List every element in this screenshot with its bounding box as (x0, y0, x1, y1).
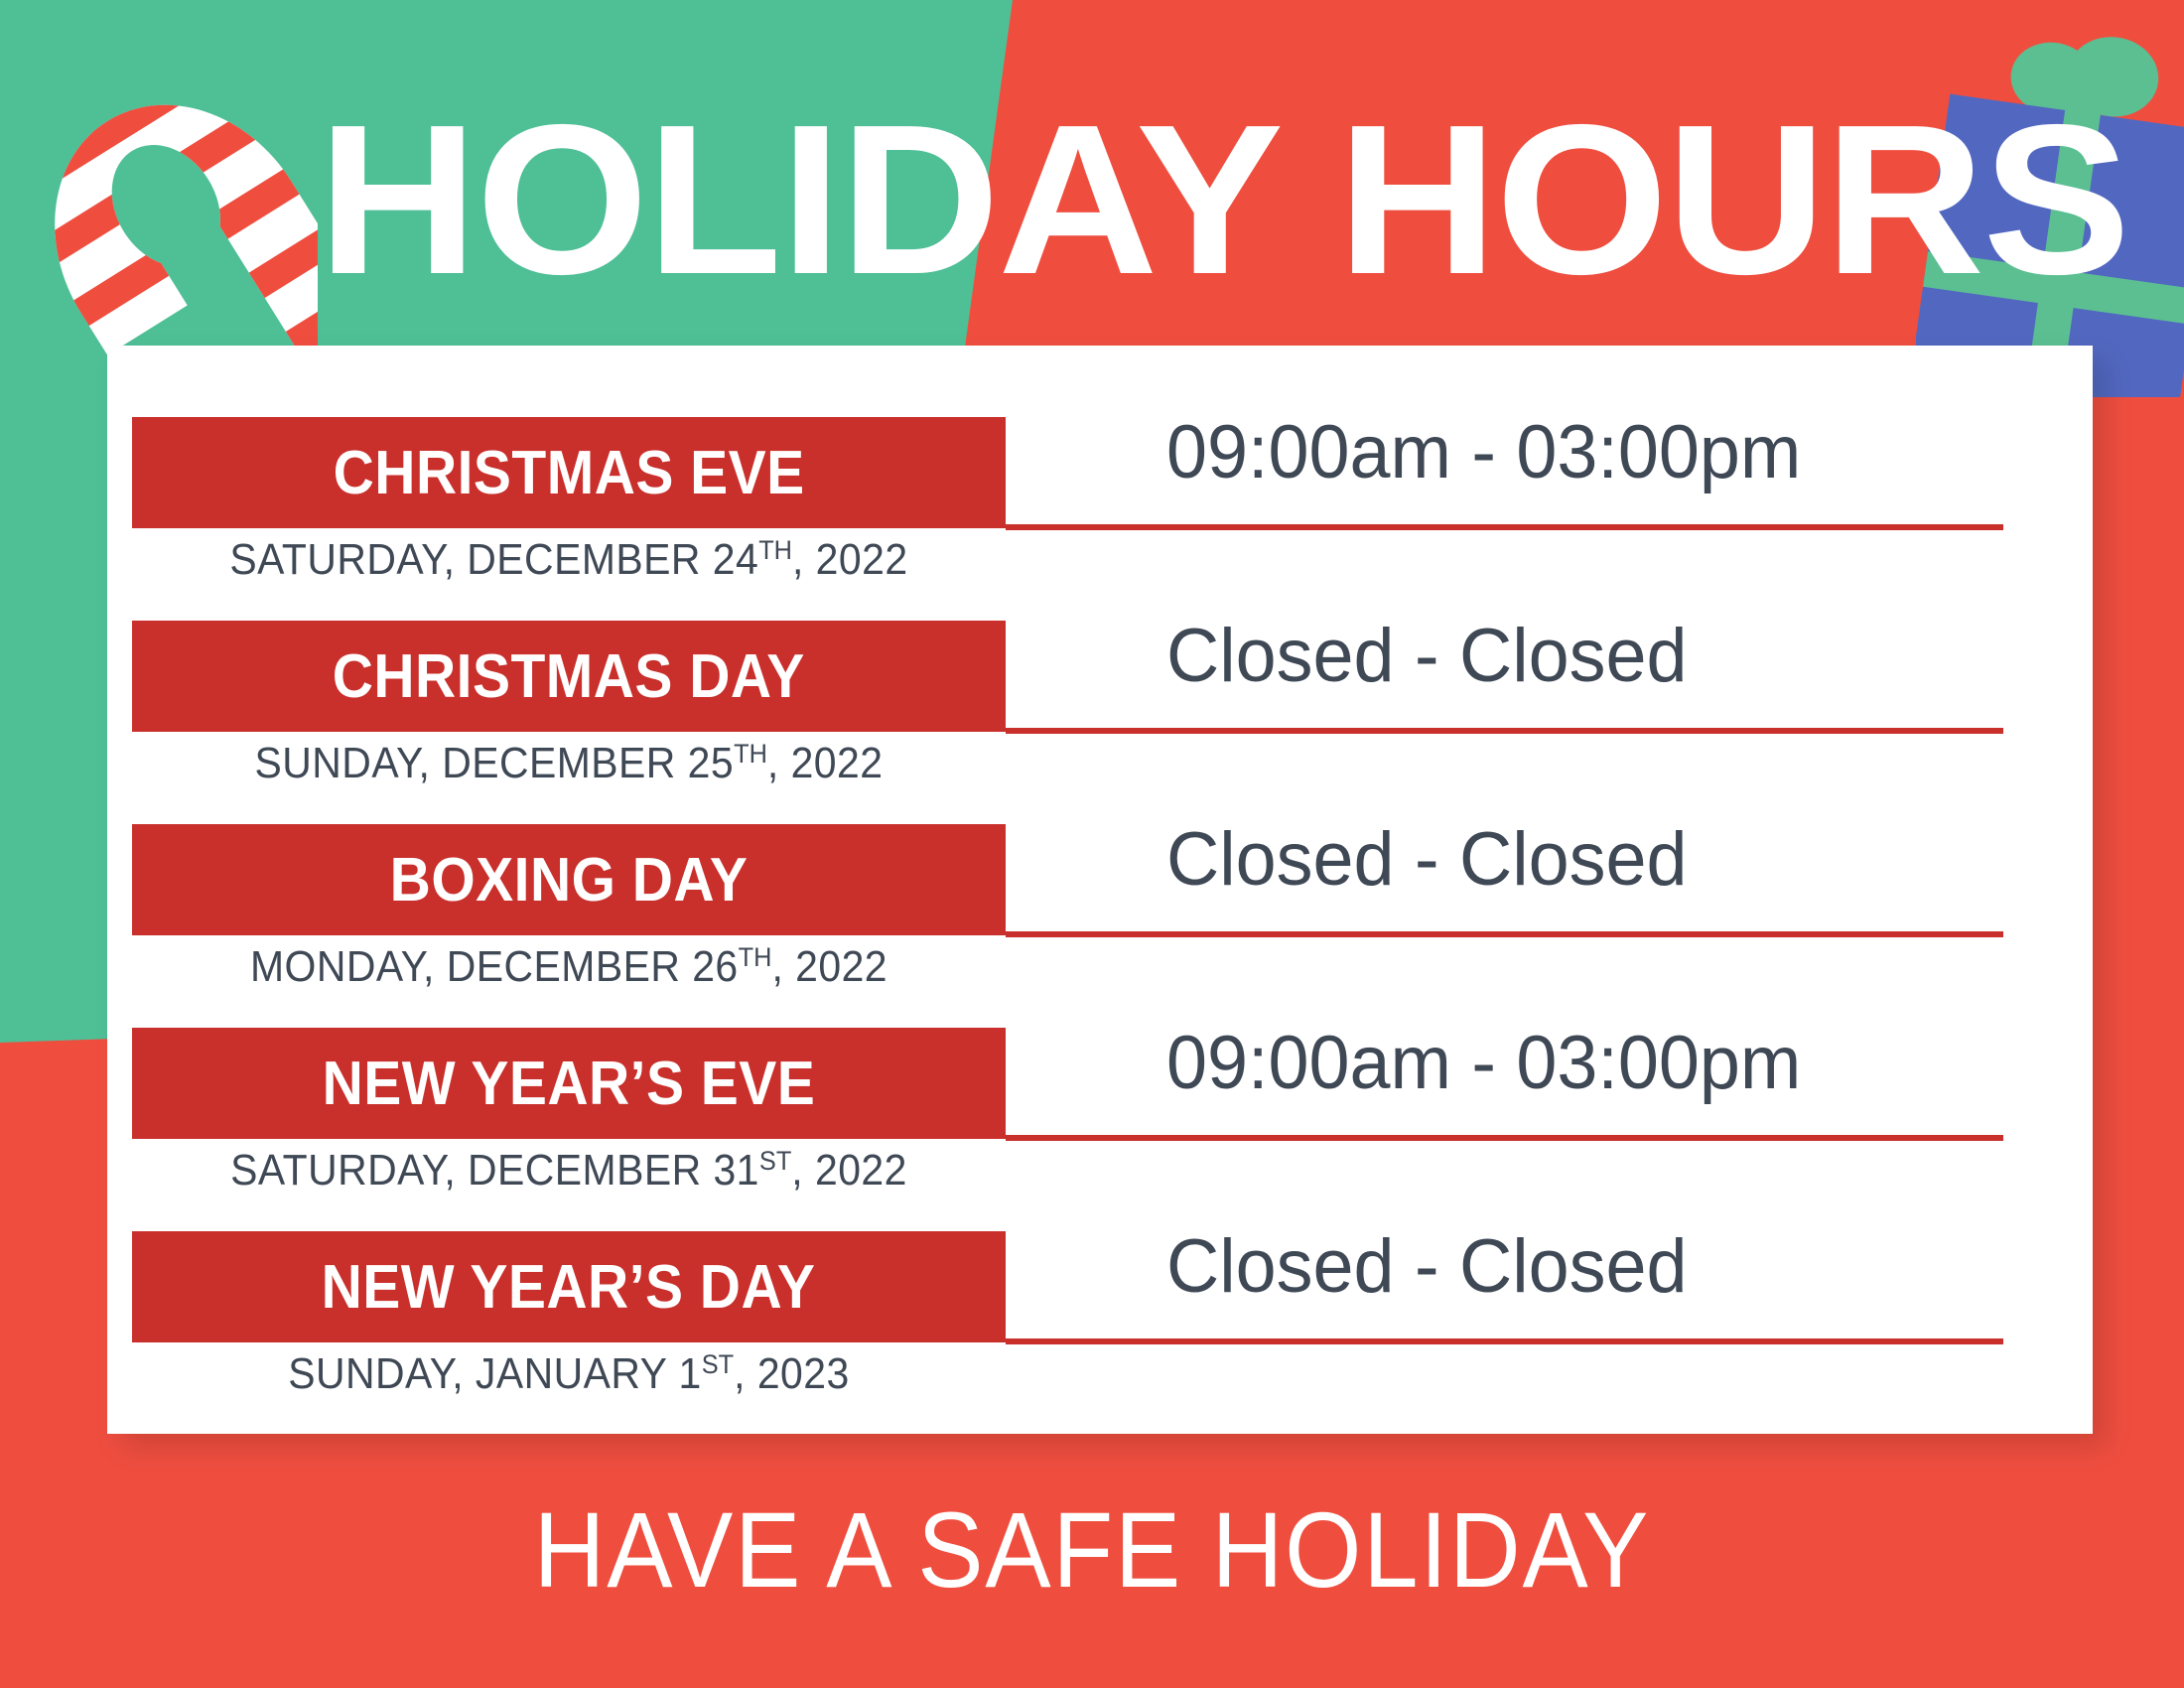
holiday-date-prefix: SATURDAY, DECEMBER 24 (229, 535, 758, 584)
holiday-name-band: NEW YEAR’S EVE (132, 1028, 1006, 1139)
holiday-date-ordinal: TH (758, 534, 792, 565)
schedule-row: NEW YEAR’S EVESATURDAY, DECEMBER 31ST, 2… (107, 1028, 2093, 1231)
footer-message: HAVE A SAFE HOLIDAY (87, 1487, 2097, 1612)
holiday-date: SATURDAY, DECEMBER 24TH, 2022 (163, 534, 975, 585)
hours-card: CHRISTMAS EVESATURDAY, DECEMBER 24TH, 20… (107, 346, 2093, 1434)
holiday-date-year: , 2022 (791, 1146, 907, 1195)
holiday-date-year: , 2022 (767, 739, 884, 787)
holiday-hours-value: Closed - Closed (1166, 1223, 1985, 1310)
row-underline (1006, 728, 2003, 734)
holiday-date-prefix: SUNDAY, JANUARY 1 (288, 1349, 702, 1398)
holiday-date-prefix: SATURDAY, DECEMBER 31 (230, 1146, 759, 1195)
holiday-hours-value: 09:00am - 03:00pm (1166, 1020, 1985, 1106)
schedule-row: NEW YEAR’S DAYSUNDAY, JANUARY 1ST, 2023C… (107, 1231, 2093, 1435)
holiday-name-label: NEW YEAR’S DAY (322, 1252, 816, 1323)
schedule-row: BOXING DAYMONDAY, DECEMBER 26TH, 2022Clo… (107, 824, 2093, 1028)
holiday-hours-value: 09:00am - 03:00pm (1166, 409, 1985, 495)
holiday-name-label: CHRISTMAS DAY (333, 641, 805, 712)
holiday-name-band: BOXING DAY (132, 824, 1006, 935)
row-underline (1006, 524, 2003, 530)
holiday-date-ordinal: TH (739, 941, 772, 972)
holiday-date-ordinal: ST (702, 1348, 734, 1379)
holiday-name-band: CHRISTMAS EVE (132, 417, 1006, 528)
holiday-date: SUNDAY, DECEMBER 25TH, 2022 (163, 738, 975, 788)
holiday-name-label: CHRISTMAS EVE (333, 438, 804, 508)
holiday-hours-value: Closed - Closed (1166, 613, 1985, 699)
holiday-date-year: , 2023 (734, 1349, 850, 1398)
holiday-hours-value: Closed - Closed (1166, 816, 1985, 903)
holiday-date: SATURDAY, DECEMBER 31ST, 2022 (163, 1145, 975, 1196)
schedule-row: CHRISTMAS DAYSUNDAY, DECEMBER 25TH, 2022… (107, 621, 2093, 824)
page-title: HOLIDAY HOURS (318, 95, 2031, 304)
holiday-date-prefix: SUNDAY, DECEMBER 25 (255, 739, 735, 787)
row-underline (1006, 1338, 2003, 1344)
holiday-date: MONDAY, DECEMBER 26TH, 2022 (163, 941, 975, 992)
row-underline (1006, 931, 2003, 937)
schedule-list: CHRISTMAS EVESATURDAY, DECEMBER 24TH, 20… (107, 346, 2093, 1434)
holiday-name-label: BOXING DAY (390, 845, 749, 915)
holiday-date-ordinal: TH (734, 738, 767, 769)
schedule-row: CHRISTMAS EVESATURDAY, DECEMBER 24TH, 20… (107, 417, 2093, 621)
holiday-date-year: , 2022 (771, 942, 887, 991)
holiday-date: SUNDAY, JANUARY 1ST, 2023 (163, 1348, 975, 1399)
row-underline (1006, 1135, 2003, 1141)
holiday-name-band: NEW YEAR’S DAY (132, 1231, 1006, 1342)
holiday-name-label: NEW YEAR’S EVE (323, 1049, 816, 1119)
holiday-date-prefix: MONDAY, DECEMBER 26 (250, 942, 739, 991)
holiday-date-ordinal: ST (759, 1145, 791, 1176)
holiday-name-band: CHRISTMAS DAY (132, 621, 1006, 732)
holiday-date-year: , 2022 (792, 535, 908, 584)
